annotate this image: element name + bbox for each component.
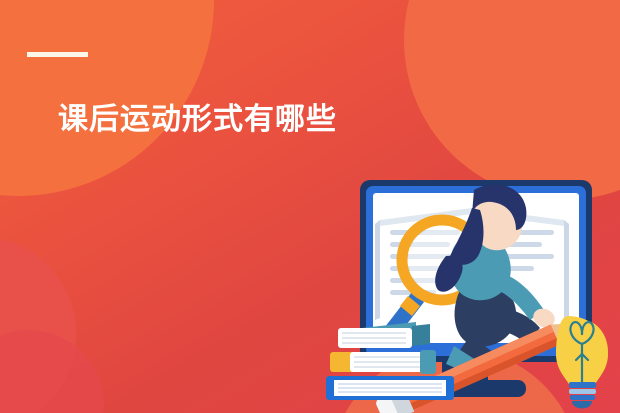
background-circle-bottom-left: [0, 330, 104, 413]
page-title: 课后运动形式有哪些: [58, 104, 337, 136]
background-circle-left: [0, 236, 76, 413]
slide-canvas: 课后运动形式有哪些: [0, 0, 620, 413]
online-learning-illustration: [320, 168, 620, 413]
title-accent-rule: [27, 52, 88, 57]
background-circle-top-left: [0, 0, 214, 196]
lightbulb-icon: [556, 316, 608, 409]
